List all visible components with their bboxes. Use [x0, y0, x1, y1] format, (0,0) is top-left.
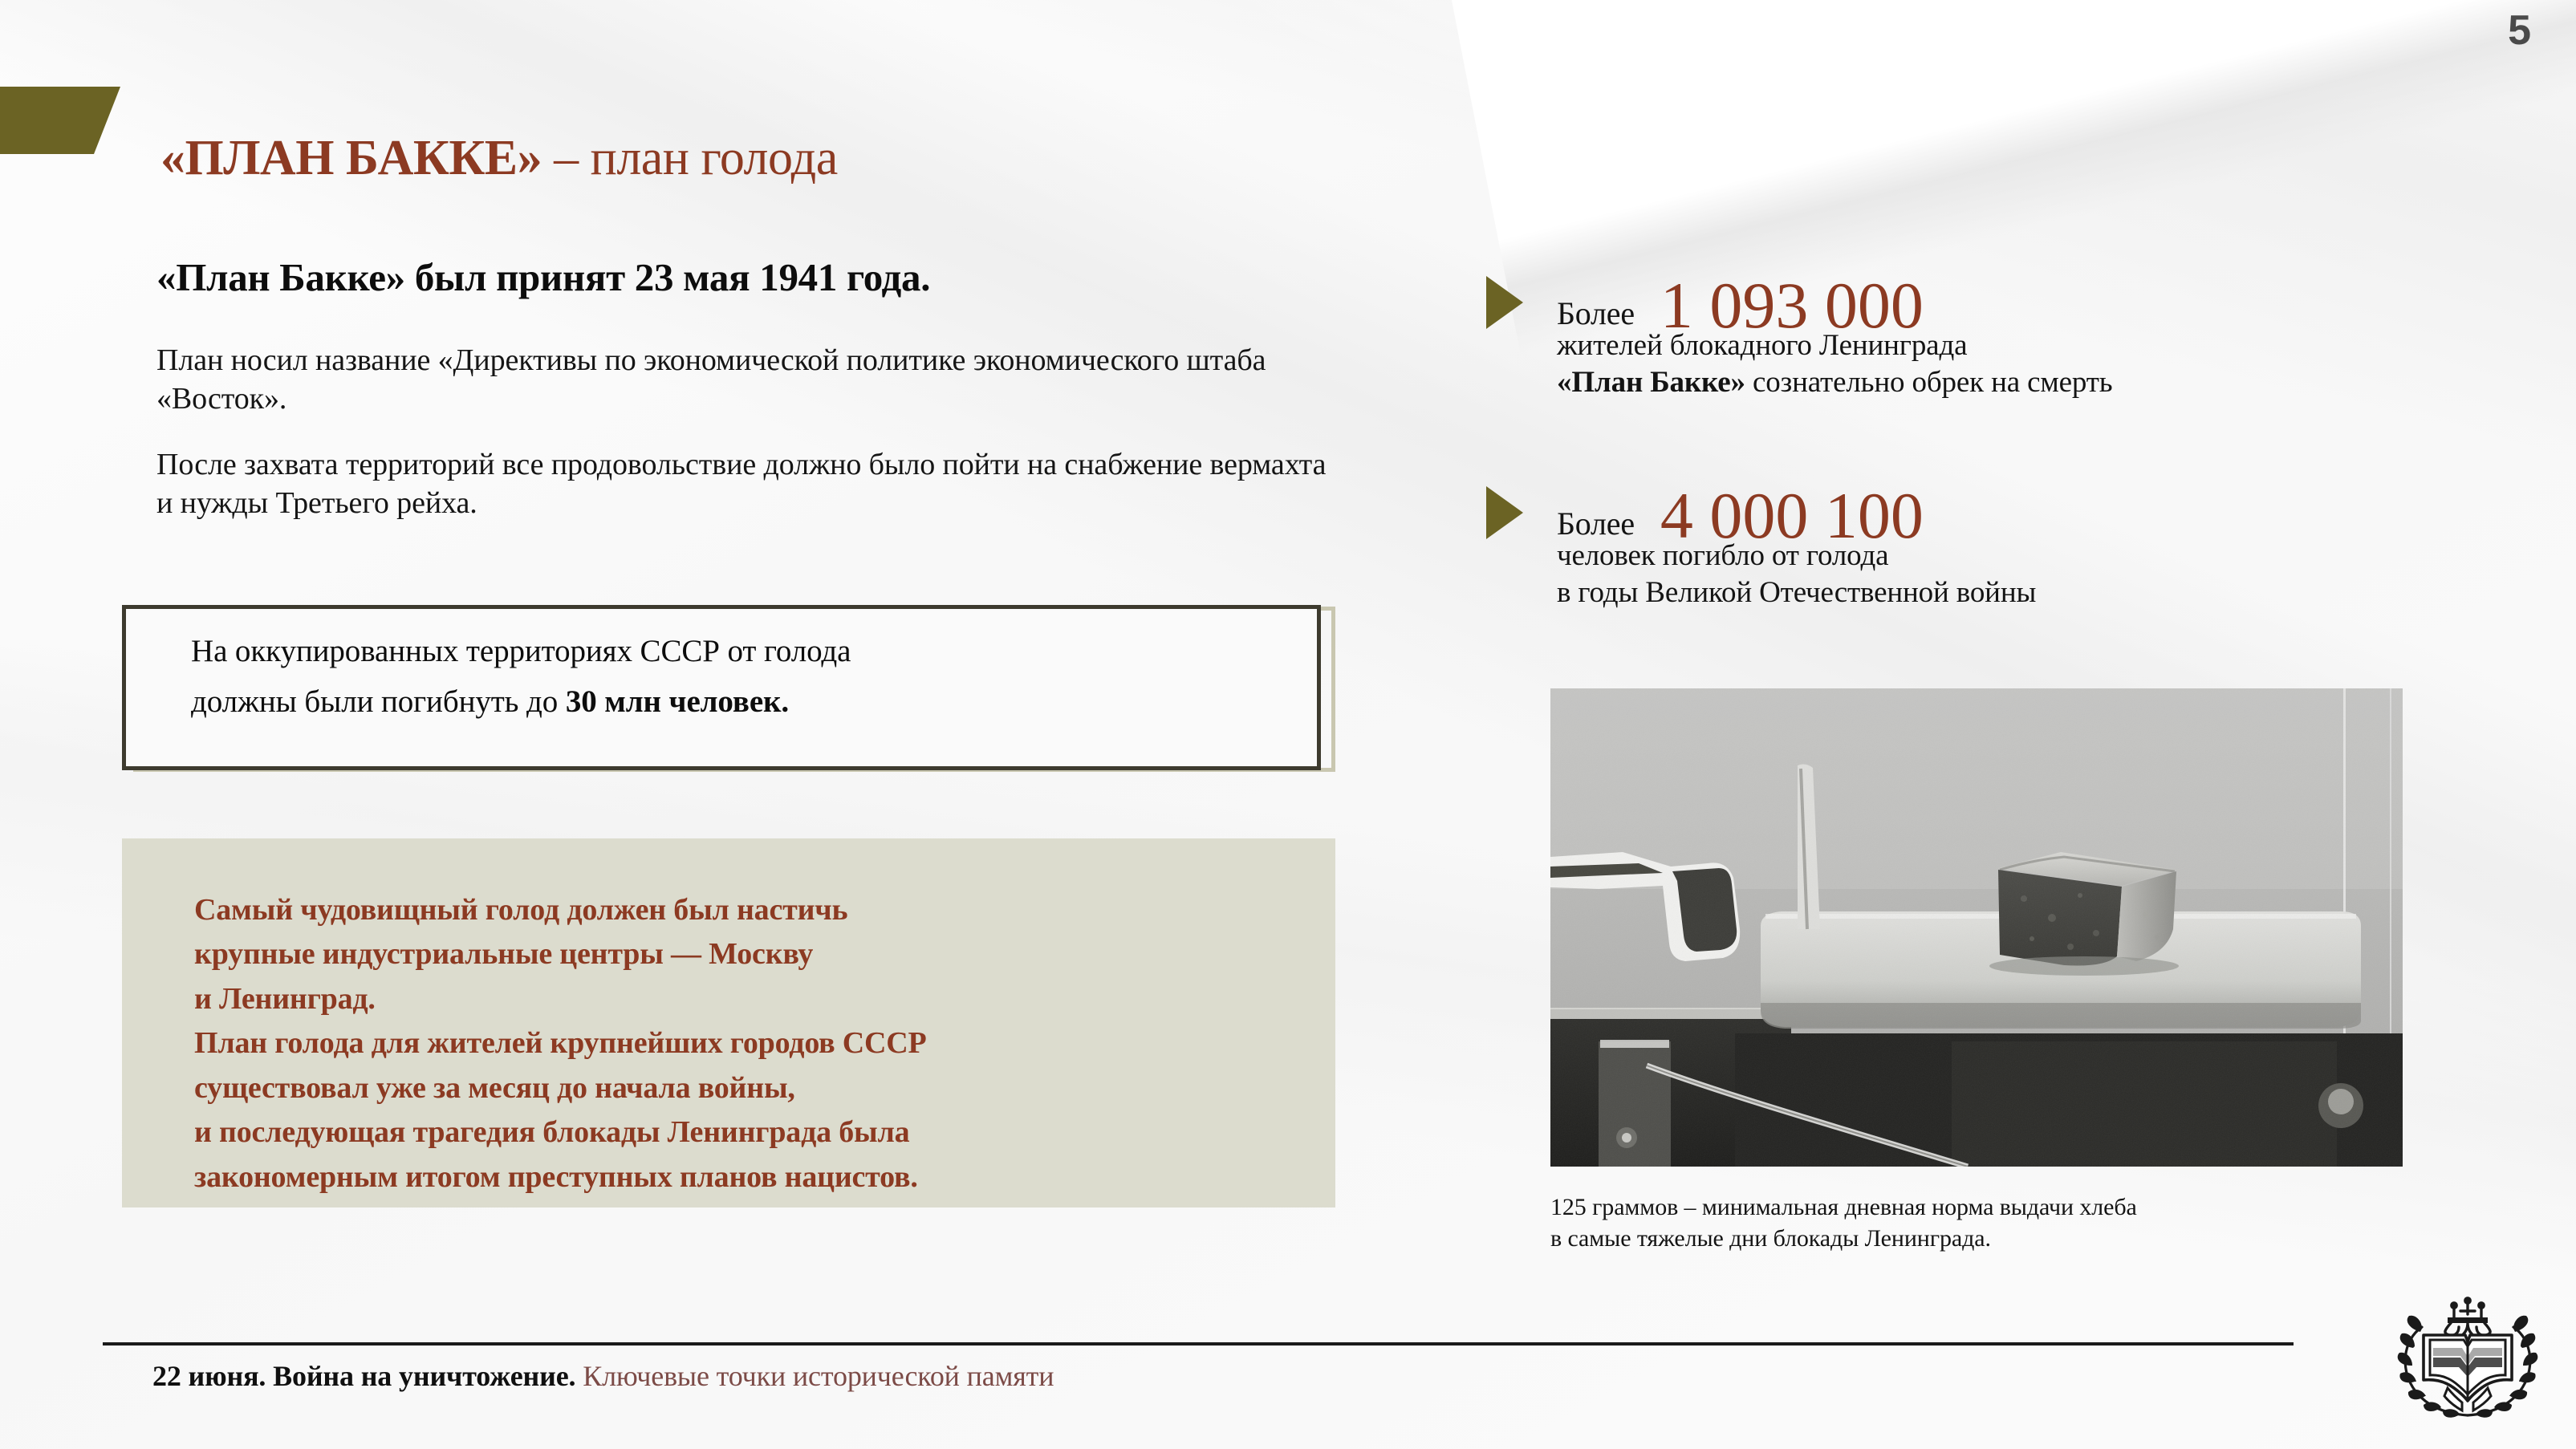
stat-1-sub-bold: «План Бакке» [1557, 366, 1745, 399]
stat-block-2: Более4 000 100 человек погибло от голода… [1486, 475, 2554, 635]
stat-block-1: Более1 093 000 жителей блокадного Ленинг… [1486, 265, 2554, 425]
page-number: 5 [2508, 6, 2531, 55]
framed-quote-value: 30 млн человек. [566, 684, 789, 719]
stat-1-sub-rest: сознательно обрек на смерть [1745, 366, 2113, 399]
photo-illustration [1550, 688, 2403, 1167]
slide-root: 5 «ПЛАН БАККЕ» – план голода «План Бакке… [0, 0, 2576, 1449]
body-paragraph-1: План носил название «Директивы по эконом… [156, 342, 1344, 419]
footer-title: 22 июня. Война на уничтожение. [152, 1360, 575, 1392]
stat-2-subtext: человек погибло от голода в годы Великой… [1557, 538, 2036, 611]
photo-caption-line-1: 125 граммов – минимальная дневная норма … [1550, 1194, 2137, 1220]
left-column: «План Бакке» был принят 23 мая 1941 года… [156, 255, 1344, 523]
callout-text: Самый чудовищный голод должен был настич… [194, 888, 1298, 1199]
photo-caption-line-2: в самые тяжелые дни блокады Ленинграда. [1550, 1225, 1991, 1252]
stat-1-prefix: Более [1557, 294, 1635, 332]
callout-panel: Самый чудовищный голод должен был настич… [122, 838, 1335, 1207]
footer-divider [103, 1342, 2294, 1345]
framed-quote-box: На оккупированных территориях СССР от го… [122, 595, 1335, 772]
photo-caption: 125 граммов – минимальная дневная норма … [1550, 1191, 2513, 1254]
stat-2-sub-line-1: человек погибло от голода [1557, 539, 1888, 572]
framed-quote-line-2-before: должны были погибнуть до [191, 684, 566, 719]
footer-subtitle: Ключевые точки исторической памяти [575, 1360, 1054, 1392]
emblem-illustration [2391, 1293, 2544, 1422]
blockade-bread-photo [1550, 688, 2403, 1167]
triangle-marker-icon [1486, 486, 1523, 539]
framed-quote-line-1: На оккупированных территориях СССР от го… [191, 634, 851, 668]
page-title-strong: «ПЛАН БАККЕ» [160, 131, 542, 185]
triangle-marker-icon [1486, 276, 1523, 329]
lead-statement: «План Бакке» был принят 23 мая 1941 года… [156, 255, 1344, 300]
stat-2-prefix: Более [1557, 505, 1635, 542]
body-paragraph-2: После захвата территорий все продовольст… [156, 446, 1344, 523]
page-title: «ПЛАН БАККЕ» – план голода [160, 130, 838, 187]
stat-1-sub-line-1: жителей блокадного Ленинграда [1557, 329, 1967, 362]
title-accent-tab [0, 87, 120, 154]
framed-quote-text: На оккупированных территориях СССР от го… [191, 626, 1295, 727]
stat-1-subtext: жителей блокадного Ленинграда «План Бакк… [1557, 327, 2113, 401]
page-title-normal: – план голода [542, 131, 838, 185]
stat-2-sub-rest: в годы Великой Отечественной войны [1557, 576, 2036, 609]
crown-book-laurel-emblem-icon [2391, 1293, 2544, 1422]
footer-text: 22 июня. Война на уничтожение. Ключевые … [152, 1359, 1054, 1393]
